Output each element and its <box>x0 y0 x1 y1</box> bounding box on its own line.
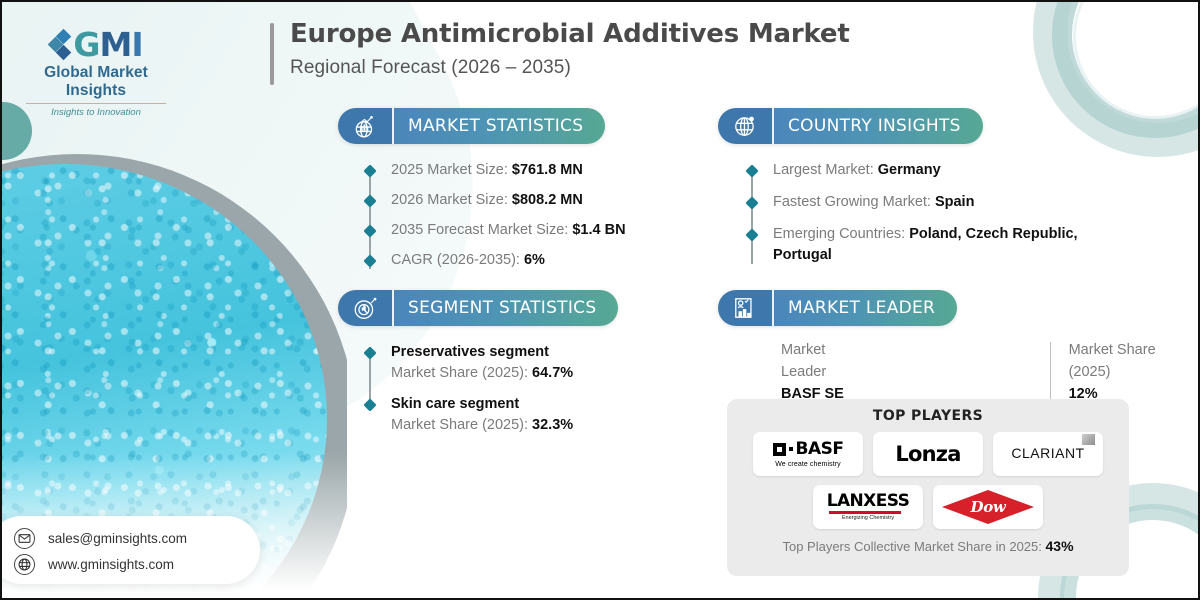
globe-icon <box>14 554 35 575</box>
player-logo-lonza[interactable]: Lonza <box>873 432 983 476</box>
bullet-diamond-icon <box>745 164 758 177</box>
player-wordmark: Lonza <box>895 442 960 466</box>
bullet-diamond-icon <box>363 194 376 207</box>
list-item: 2026 Market Size: $808.2 MN <box>364 190 664 211</box>
section-header-segment-statistics: SEGMENT STATISTICS <box>338 290 618 326</box>
top-players-title: TOP PLAYERS <box>739 408 1117 424</box>
section-header-country-insights: COUNTRY INSIGHTS <box>718 108 983 144</box>
envelope-icon <box>14 528 35 549</box>
stat-value: $761.8 MN <box>512 162 583 178</box>
stat-label: 2025 Market Size: <box>391 162 508 178</box>
segment-heading: Skin care segment <box>391 394 573 415</box>
country-value: Germany <box>878 162 941 178</box>
logo-diamonds-icon <box>49 30 71 60</box>
section-header-market-statistics: MARKET STATISTICS <box>338 108 605 144</box>
market-share-label: Market Share (2025) <box>1069 340 1176 384</box>
top-players-row-1: BASF We create chemistry Lonza CLARIANT <box>739 432 1117 476</box>
bullet-diamond-icon <box>363 346 376 359</box>
player-tagline: Energizing Chemistry <box>827 516 909 522</box>
section-title-market-statistics: MARKET STATISTICS <box>392 108 605 144</box>
market-share-column: Market Share (2025) 12% <box>1069 340 1198 404</box>
list-item: Largest Market: Germany <box>746 160 1146 181</box>
contact-panel: sales@gminsights.com www.gminsights.com <box>0 516 260 584</box>
lanxess-underline <box>829 511 901 514</box>
logo-letter-i: I <box>131 25 142 64</box>
stat-value: $1.4 BN <box>572 222 625 238</box>
stat-label: 2026 Market Size: <box>391 192 508 208</box>
logo-company-name: Global Market Insights <box>16 64 176 100</box>
podium-icon <box>718 290 772 326</box>
stat-label: CAGR (2026-2035): <box>391 252 520 268</box>
section-title-segment-statistics: SEGMENT STATISTICS <box>392 290 618 326</box>
decor-ring-top-right-inner <box>1073 0 1200 119</box>
basf-square-icon <box>773 443 786 456</box>
bullet-diamond-icon <box>745 196 758 209</box>
decor-ring-top-right-mid <box>1052 0 1200 138</box>
logo-letter-g: G <box>73 25 99 64</box>
player-logo-clariant[interactable]: CLARIANT <box>993 432 1103 476</box>
segment-label: Market Share (2025): <box>391 365 528 381</box>
segment-value: 64.7% <box>532 365 573 381</box>
top-players-footer: Top Players Collective Market Share in 2… <box>739 538 1117 554</box>
bullet-diamond-icon <box>363 254 376 267</box>
collective-share-label: Top Players Collective Market Share in 2… <box>782 539 1041 554</box>
list-item: Preservatives segment Market Share (2025… <box>364 342 664 384</box>
title-accent-bar <box>270 23 274 85</box>
list-item: 2035 Forecast Market Size: $1.4 BN <box>364 220 664 241</box>
bullet-diamond-icon <box>363 164 376 177</box>
market-leader-label: Market Leader <box>781 340 857 384</box>
logo-tagline: Insights to Innovation <box>16 107 176 118</box>
market-statistics-list: 2025 Market Size: $761.8 MN 2026 Market … <box>364 160 664 280</box>
vertical-divider <box>1050 342 1051 402</box>
page-title: Europe Antimicrobial Additives Market <box>290 20 850 50</box>
player-wordmark: CLARIANT <box>1011 445 1084 461</box>
segment-statistics-list: Preservatives segment Market Share (2025… <box>364 342 664 445</box>
segment-value: 32.3% <box>532 417 573 433</box>
country-label: Emerging Countries: <box>773 226 905 242</box>
top-players-panel: TOP PLAYERS BASF We create chemistry Lon… <box>727 399 1129 576</box>
list-item: Fastest Growing Market: Spain <box>746 192 1146 213</box>
logo-divider <box>26 103 166 104</box>
dow-diamond-icon: Dow <box>942 490 1034 524</box>
stat-value: 6% <box>524 252 545 268</box>
clariant-mark-icon <box>1082 434 1095 445</box>
country-label: Largest Market: <box>773 162 874 178</box>
globe-chart-icon <box>338 108 392 144</box>
contact-email[interactable]: sales@gminsights.com <box>48 531 187 546</box>
list-item: 2025 Market Size: $761.8 MN <box>364 160 664 181</box>
bullet-diamond-icon <box>363 398 376 411</box>
contact-website[interactable]: www.gminsights.com <box>48 557 174 572</box>
section-title-market-leader: MARKET LEADER <box>772 290 957 326</box>
contact-email-row[interactable]: sales@gminsights.com <box>14 525 260 551</box>
collective-share-value: 43% <box>1046 538 1074 554</box>
page-subtitle: Regional Forecast (2026 – 2035) <box>290 57 850 79</box>
list-item: CAGR (2026-2035): 6% <box>364 250 664 271</box>
player-wordmark: LANXESS <box>827 493 909 510</box>
decor-ring-top-right-outer <box>1033 0 1200 157</box>
section-title-country-insights: COUNTRY INSIGHTS <box>772 108 983 144</box>
bullet-diamond-icon <box>745 228 758 241</box>
segment-label: Market Share (2025): <box>391 417 528 433</box>
stat-label: 2035 Forecast Market Size: <box>391 222 568 238</box>
infographic-canvas: GMI Global Market Insights Insights to I… <box>0 0 1200 600</box>
top-players-row-2: LANXESS Energizing Chemistry Dow <box>739 485 1117 529</box>
gmi-logo: GMI Global Market Insights Insights to I… <box>16 28 176 118</box>
country-value: Spain <box>935 194 974 210</box>
segment-heading: Preservatives segment <box>391 342 573 363</box>
list-item: Emerging Countries: Poland, Czech Republ… <box>746 224 1146 266</box>
list-item: Skin care segment Market Share (2025): 3… <box>364 394 664 436</box>
player-logo-lanxess[interactable]: LANXESS Energizing Chemistry <box>813 485 923 529</box>
page-title-block: Europe Antimicrobial Additives Market Re… <box>270 20 850 85</box>
pie-chart-icon <box>338 290 392 326</box>
player-tagline: We create chemistry <box>773 461 844 468</box>
player-logo-dow[interactable]: Dow <box>933 485 1043 529</box>
player-wordmark: Dow <box>970 498 1005 516</box>
basf-dot-icon <box>789 447 793 451</box>
bullet-diamond-icon <box>363 224 376 237</box>
country-label: Fastest Growing Market: <box>773 194 931 210</box>
section-header-market-leader: MARKET LEADER <box>718 290 957 326</box>
country-insights-list: Largest Market: Germany Fastest Growing … <box>746 160 1146 275</box>
market-leader-column: Market Leader BASF SE <box>781 340 879 404</box>
stat-value: $808.2 MN <box>512 192 583 208</box>
player-logo-basf[interactable]: BASF We create chemistry <box>753 432 863 476</box>
logo-wordmark: GMI <box>73 28 142 61</box>
logo-letter-m: M <box>99 25 131 64</box>
market-leader-detail: Market Leader BASF SE Market Share (2025… <box>781 340 1198 404</box>
player-wordmark: BASF <box>796 441 844 458</box>
contact-website-row[interactable]: www.gminsights.com <box>14 551 260 577</box>
globe-pin-icon <box>718 108 772 144</box>
